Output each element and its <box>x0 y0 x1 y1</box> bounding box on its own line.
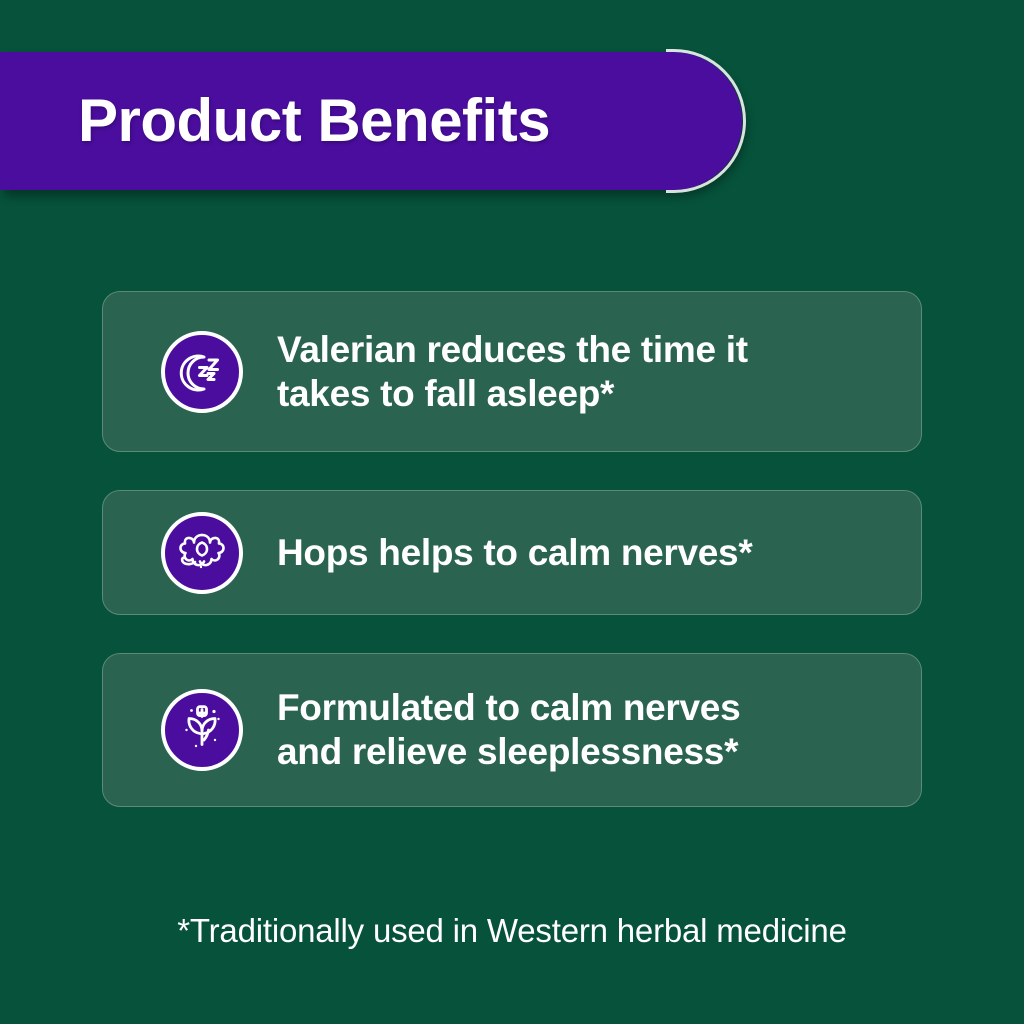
benefits-list: Valerian reduces the time it takes to fa… <box>102 291 922 845</box>
benefit-text-line1: Valerian reduces the time it <box>277 328 748 372</box>
benefit-text-line1: Hops helps to calm nerves* <box>277 531 752 575</box>
benefit-text: Hops helps to calm nerves* <box>277 531 752 575</box>
footnote-text: *Traditionally used in Western herbal me… <box>0 912 1024 950</box>
sleep-moon-zzz-icon <box>161 331 243 413</box>
benefit-text-line2: and relieve sleeplessness* <box>277 730 740 774</box>
hops-cone-icon <box>161 512 243 594</box>
benefit-text: Formulated to calm nerves and relieve sl… <box>277 686 740 773</box>
header-banner: Product Benefits <box>0 52 742 190</box>
benefit-card-formulated: Formulated to calm nerves and relieve sl… <box>102 653 922 807</box>
leaves-plus-icon <box>161 689 243 771</box>
benefit-text-line2: takes to fall asleep* <box>277 372 748 416</box>
page-title: Product Benefits <box>0 91 550 151</box>
benefit-text: Valerian reduces the time it takes to fa… <box>277 328 748 415</box>
benefit-card-valerian: Valerian reduces the time it takes to fa… <box>102 291 922 452</box>
benefit-card-hops: Hops helps to calm nerves* <box>102 490 922 615</box>
benefit-text-line1: Formulated to calm nerves <box>277 686 740 730</box>
